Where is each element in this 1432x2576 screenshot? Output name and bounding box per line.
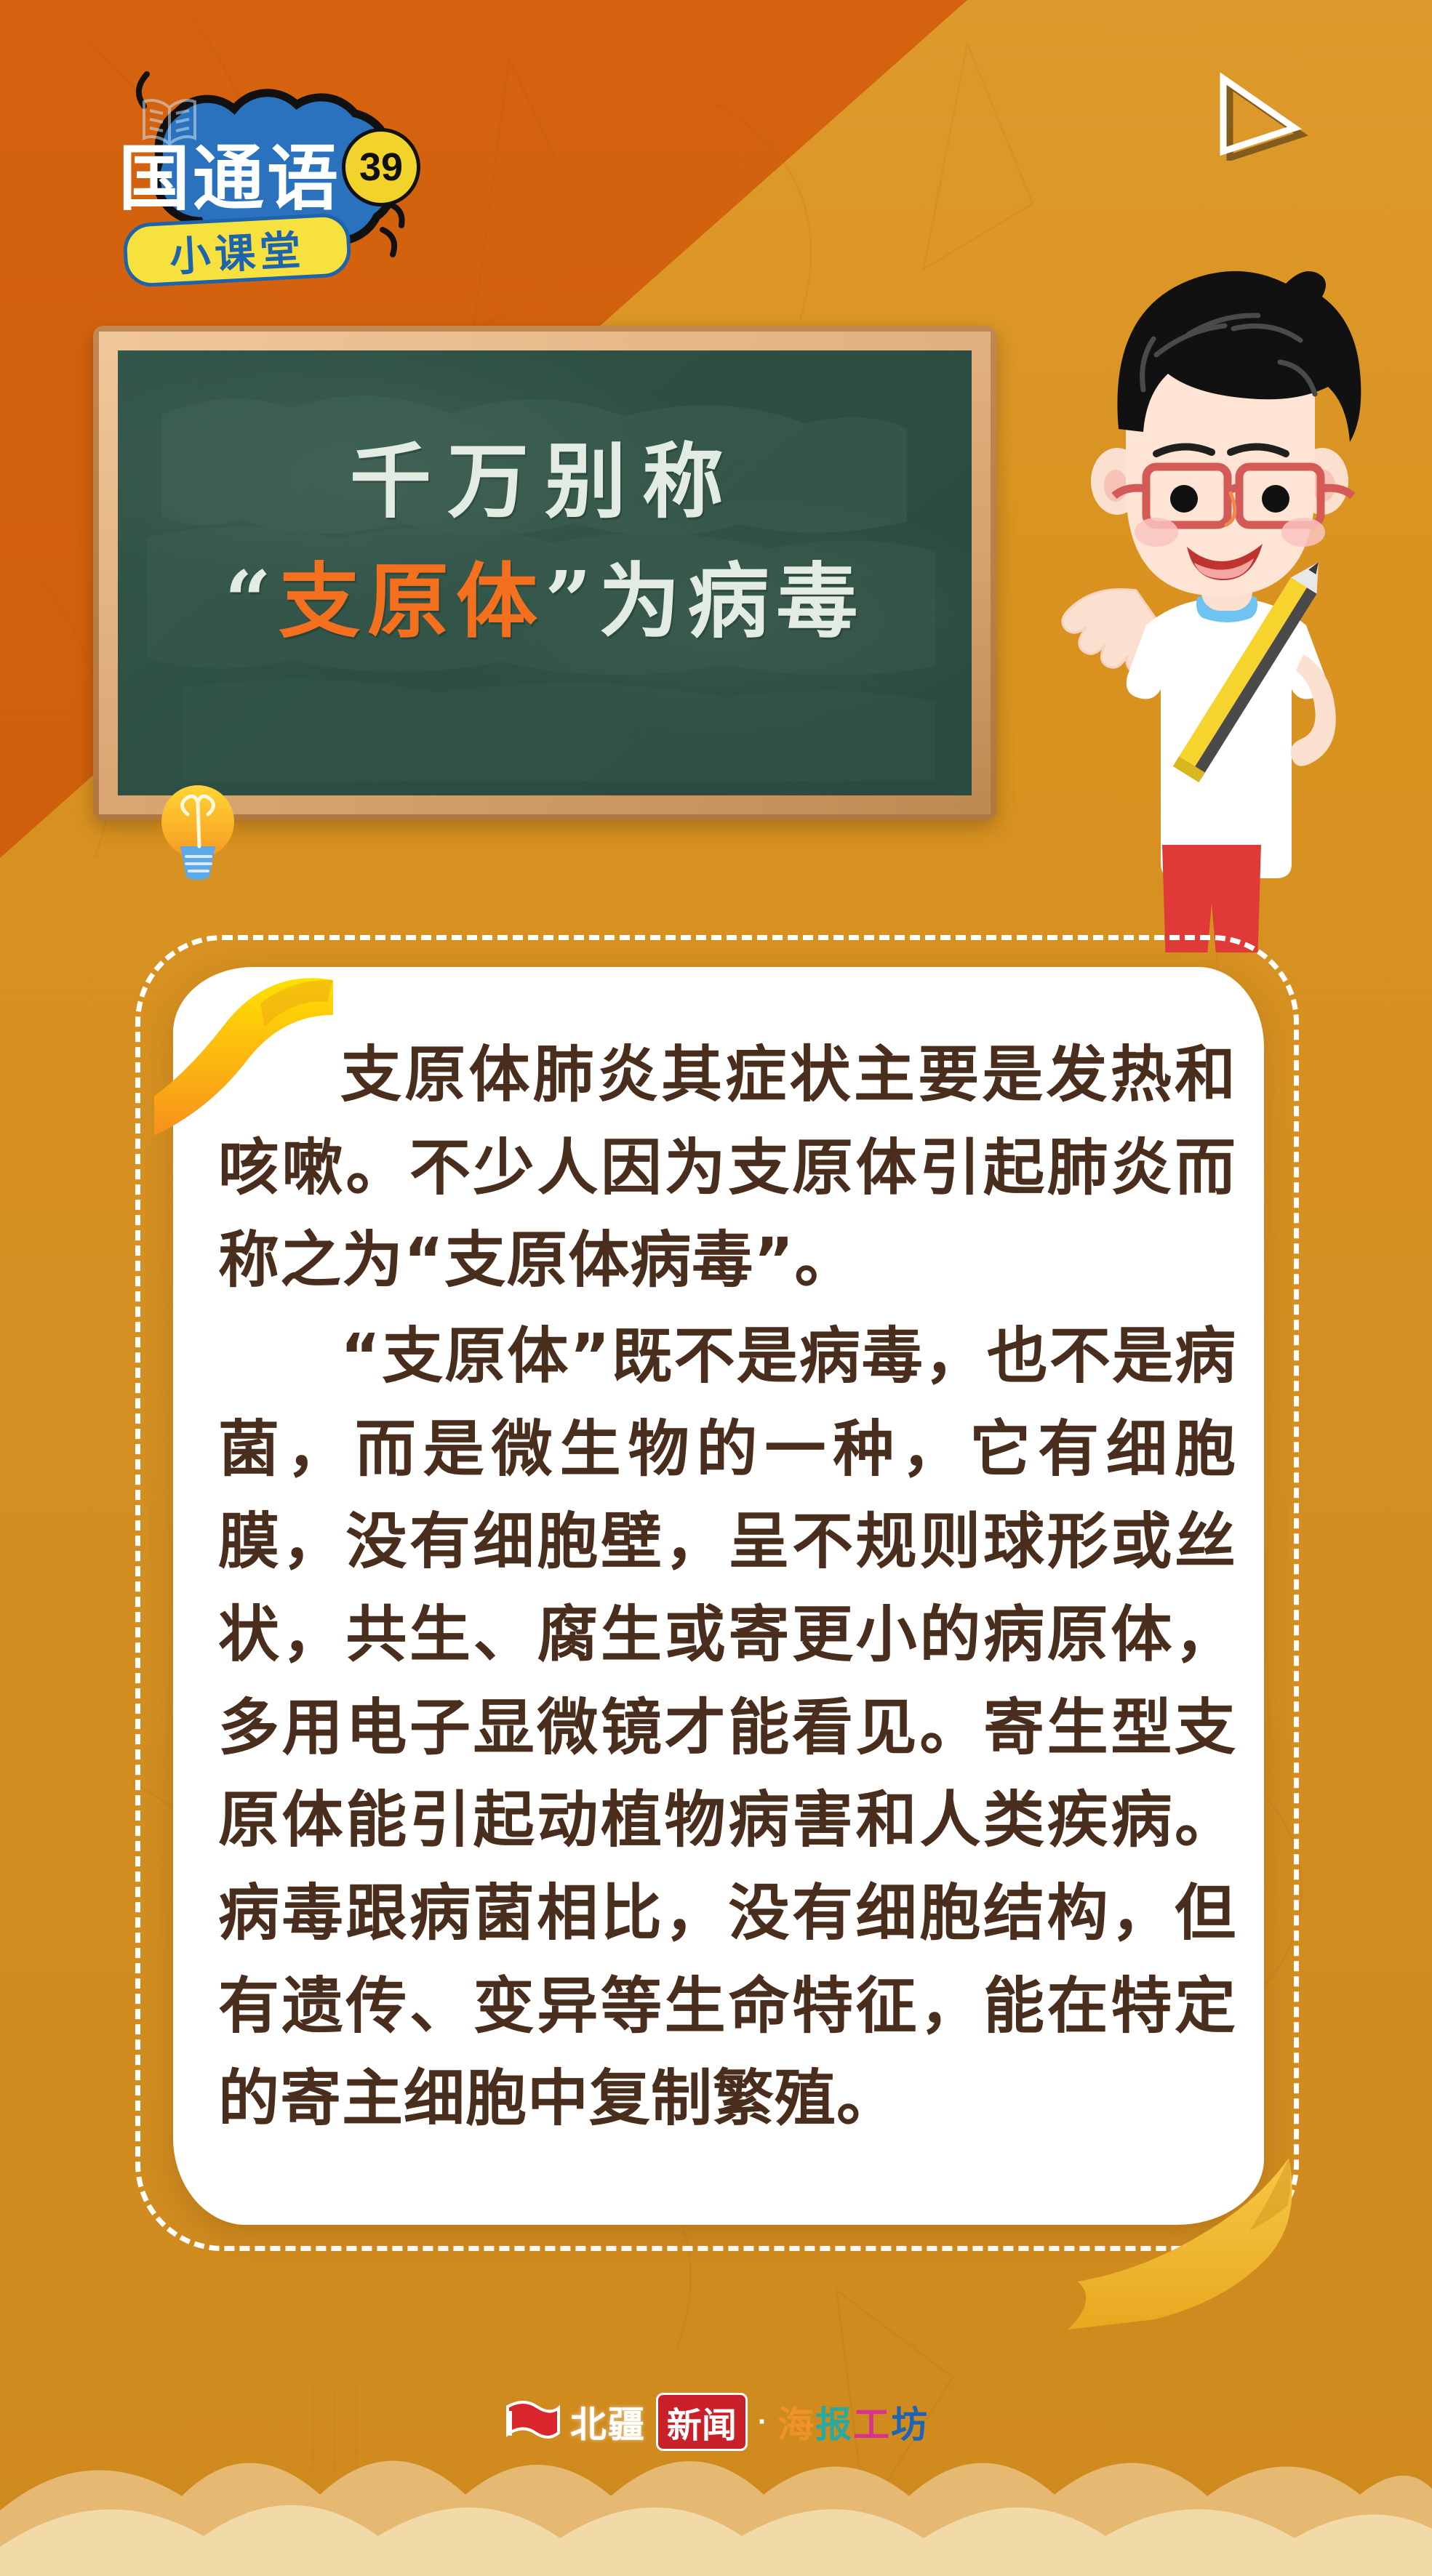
poster-root: 国通语 39 小课堂 千万别称 “支原体”为病毒 bbox=[0, 0, 1432, 2576]
footer-studio-char-4: 坊 bbox=[891, 2403, 929, 2446]
play-triangle-icon bbox=[1201, 70, 1311, 161]
footer-studio-name: 海报工坊 bbox=[777, 2396, 929, 2448]
blackboard-surface: 千万别称 “支原体”为病毒 bbox=[118, 350, 972, 795]
logo-subtitle-text: 小课堂 bbox=[168, 217, 306, 284]
footer-news-badge: 新闻 bbox=[656, 2393, 748, 2451]
quote-open: “ bbox=[225, 554, 279, 649]
quote-close: ” bbox=[545, 554, 599, 649]
board-title-line1: 千万别称 bbox=[118, 416, 972, 534]
footer-separator: · bbox=[758, 2406, 767, 2439]
blackboard-frame: 千万别称 “支原体”为病毒 bbox=[99, 332, 991, 814]
logo-subtitle-pill: 小课堂 bbox=[122, 212, 352, 288]
article-body: 支原体肺炎其症状主要是发热和咳嗽。不少人因为支原体引起肺炎而称之为“支原体病毒”… bbox=[218, 1029, 1236, 2148]
board-title-tail: 为病毒 bbox=[599, 554, 865, 649]
board-title-highlight: 支原体 bbox=[279, 554, 545, 649]
footer-outlet-name: 北疆 bbox=[570, 2396, 646, 2448]
footer-studio-char-2: 报 bbox=[815, 2403, 853, 2446]
footer-studio-char-1: 海 bbox=[777, 2403, 815, 2446]
footer-branding: 北疆 新闻 · 海报工坊 bbox=[0, 2388, 1432, 2455]
logo-main-text: 国通语 bbox=[119, 143, 341, 214]
red-flag-icon bbox=[503, 2399, 560, 2444]
article-paragraph: 支原体肺炎其症状主要是发热和咳嗽。不少人因为支原体引起肺炎而称之为“支原体病毒”… bbox=[218, 1029, 1236, 1307]
logo-episode-badge: 39 bbox=[342, 128, 420, 206]
footer-studio-char-3: 工 bbox=[853, 2403, 891, 2446]
article-paragraph: “支原体”既不是病毒，也不是病菌，而是微生物的一种，它有细胞膜，没有细胞壁，呈不… bbox=[218, 1310, 1236, 2146]
blackboard: 千万别称 “支原体”为病毒 bbox=[93, 326, 996, 820]
boy-with-glasses-illustration bbox=[975, 218, 1411, 952]
lightbulb-icon bbox=[154, 777, 241, 893]
board-title-line2: “支原体”为病毒 bbox=[118, 536, 972, 654]
